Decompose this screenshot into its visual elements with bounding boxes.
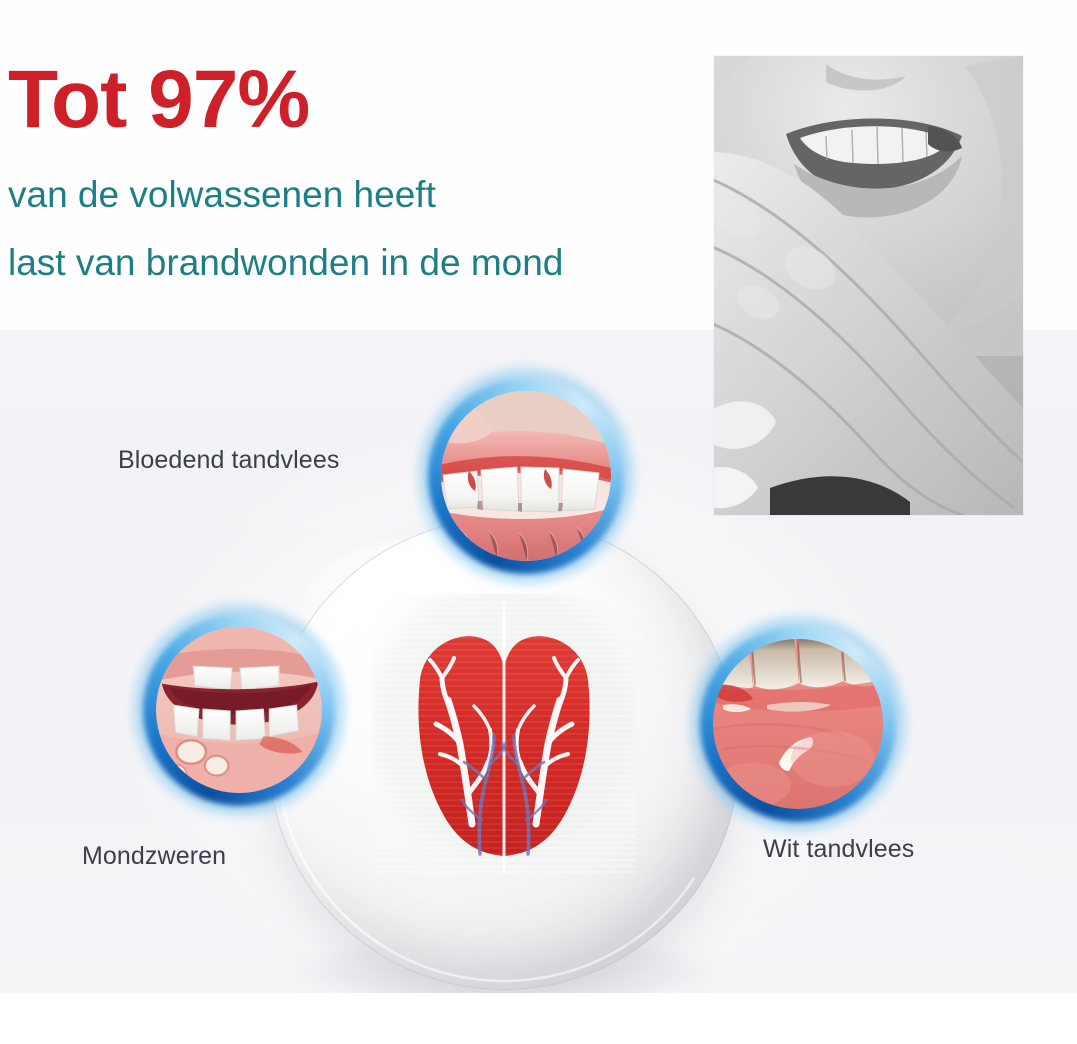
subheadline-line-2: last van brandwonden in de mond — [8, 244, 668, 281]
bubble-white-gums[interactable] — [700, 626, 896, 822]
bubble-bleeding-gums[interactable] — [428, 378, 624, 574]
poster-canvas: Tot 97% van de volwassenen heeft last va… — [0, 0, 1077, 1044]
bleeding-gums-illustration — [441, 391, 611, 561]
gum-anatomy-illustration — [368, 588, 640, 888]
bubble-photo-white-gums — [713, 639, 883, 809]
subheadline-line-1: van de volwassenen heeft — [8, 176, 668, 213]
central-composition: Bloedend tandvlees Mondzweren Wit tandvl… — [0, 330, 1077, 993]
bottom-white-margin — [0, 993, 1077, 1044]
white-gums-illustration — [713, 639, 883, 809]
bubble-photo-mouth-ulcers — [156, 627, 322, 793]
page-title: Tot 97% — [8, 58, 668, 142]
label-bleeding-gums: Bloedend tandvlees — [118, 446, 339, 475]
bubble-mouth-ulcers[interactable] — [143, 614, 335, 806]
mouth-ulcers-illustration — [156, 627, 322, 793]
bubble-photo-bleeding-gums — [441, 391, 611, 561]
headline-block: Tot 97% van de volwassenen heeft last va… — [8, 58, 668, 281]
gum-anatomy-svg — [368, 588, 640, 888]
label-white-gums: Wit tandvlees — [763, 835, 914, 864]
label-mouth-ulcers: Mondzweren — [82, 842, 226, 871]
